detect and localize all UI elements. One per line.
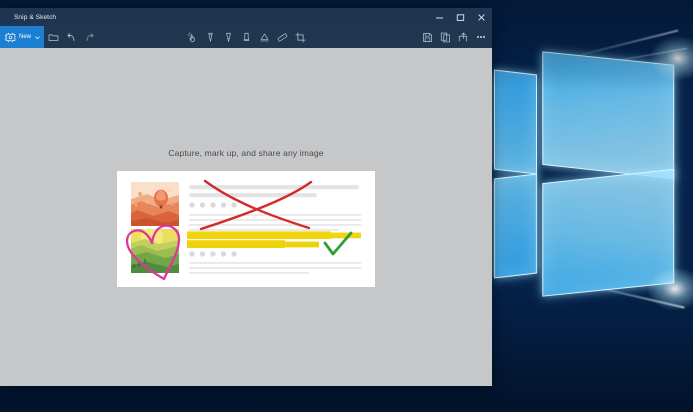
highlighter-icon <box>241 32 252 43</box>
illustration-svg <box>117 171 375 287</box>
close-icon <box>477 13 486 22</box>
redo-icon <box>84 32 95 43</box>
copy-icon <box>440 32 451 43</box>
windows-logo-pane-bottom-left <box>494 174 537 279</box>
undo-icon <box>66 32 77 43</box>
windows-logo-pane-top-left <box>494 70 537 175</box>
chevron-down-icon[interactable] <box>34 34 41 41</box>
save-icon <box>422 32 433 43</box>
window-titlebar[interactable]: Snip & Sketch <box>0 8 492 26</box>
save-button[interactable] <box>418 26 436 48</box>
ruler-icon <box>277 32 288 43</box>
close-button[interactable] <box>471 8 492 26</box>
touch-writing-icon <box>187 32 198 43</box>
command-bar-right-group <box>418 26 490 48</box>
maximize-button[interactable] <box>450 8 471 26</box>
windows-logo-glow-top <box>650 36 693 80</box>
crop-icon <box>295 32 306 43</box>
balloon-photo <box>131 182 179 226</box>
touch-writing-button[interactable] <box>183 26 201 48</box>
see-more-button[interactable] <box>472 26 490 48</box>
minimize-icon <box>435 13 444 22</box>
crop-button[interactable] <box>291 26 309 48</box>
undo-button[interactable] <box>62 26 80 48</box>
maximize-icon <box>456 13 465 22</box>
minimize-button[interactable] <box>429 8 450 26</box>
ellipsis-icon <box>483 36 485 38</box>
ballpoint-pen-button[interactable] <box>201 26 219 48</box>
open-file-button[interactable] <box>44 26 62 48</box>
windows-logo-pane-bottom-right <box>542 169 674 297</box>
pencil-icon <box>223 32 234 43</box>
eraser-button[interactable] <box>255 26 273 48</box>
new-snip-button[interactable]: New <box>0 26 44 48</box>
ellipsis-icon <box>477 36 479 38</box>
window-controls <box>429 8 492 26</box>
windows-logo-pane-top-right <box>542 51 674 179</box>
empty-state-illustration <box>117 171 375 287</box>
share-icon <box>458 32 469 43</box>
eraser-icon <box>259 32 270 43</box>
command-bar-left-group: New <box>0 26 98 48</box>
window-title: Snip & Sketch <box>14 14 56 21</box>
ballpoint-pen-icon <box>205 32 216 43</box>
empty-state-headline: Capture, mark up, and share any image <box>168 148 323 158</box>
annotation-tools-group <box>183 26 309 48</box>
windows-logo-glow-bottom <box>648 268 693 310</box>
ruler-button[interactable] <box>273 26 291 48</box>
copy-button[interactable] <box>436 26 454 48</box>
ellipsis-icon <box>480 36 482 38</box>
pencil-button[interactable] <box>219 26 237 48</box>
new-snip-icon <box>5 32 16 43</box>
redo-button[interactable] <box>80 26 98 48</box>
screen: Snip & Sketch <box>0 0 693 412</box>
share-button[interactable] <box>454 26 472 48</box>
command-bar: New <box>0 26 492 48</box>
highlighter-button[interactable] <box>237 26 255 48</box>
snip-canvas-empty-state[interactable]: Capture, mark up, and share any image <box>0 48 492 386</box>
new-snip-label: New <box>19 34 31 40</box>
folder-icon <box>48 32 59 43</box>
snip-and-sketch-window: Snip & Sketch <box>0 8 492 386</box>
